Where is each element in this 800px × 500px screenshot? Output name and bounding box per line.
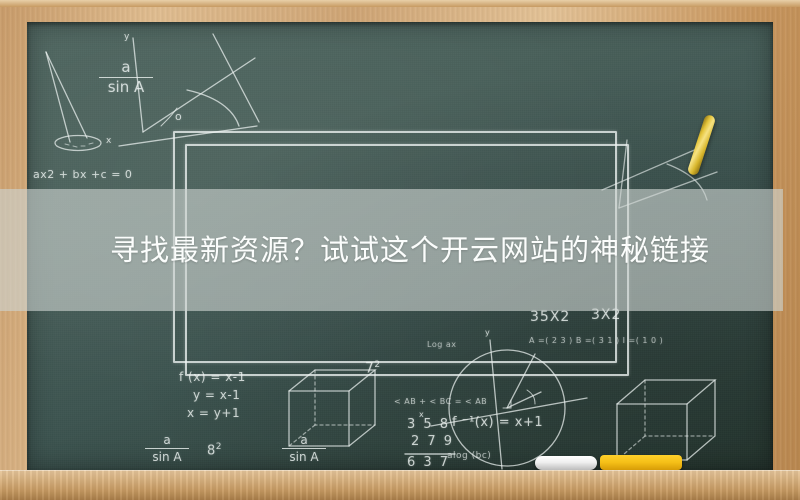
white-chalk-icon <box>535 456 597 470</box>
chalk-tray-ledge <box>0 470 800 500</box>
power-8-exponent: 2 <box>216 442 222 452</box>
fraction-numerator: a <box>145 434 189 446</box>
fraction-denominator: sin A <box>282 451 326 464</box>
chalk-fraction-a-over-sinA-bl2: a sin A <box>282 434 326 464</box>
yellow-chalk-tray-icon <box>600 455 682 470</box>
power-8-base-text: 8 <box>207 443 216 458</box>
fraction-numerator: a <box>282 434 326 446</box>
chalk-sum-row-3: 6 3 7 <box>407 455 450 470</box>
chalk-axis-label-y-topleft: y <box>124 32 130 42</box>
chalk-log-bc: alog (bc) <box>447 451 491 461</box>
chalk-sum-row-1: 3 5 8 <box>407 417 450 432</box>
headline-text: 寻找最新资源？试试这个开云网站的神秘链接 <box>110 230 710 270</box>
frame-bevel-top <box>0 0 800 7</box>
cube-right <box>617 380 715 460</box>
chalk-function-line-3: x = y+1 <box>187 406 240 420</box>
yellow-chalk-stick-icon <box>687 114 717 176</box>
chalk-fraction-a-over-sinA-topleft: a sin A <box>99 60 153 96</box>
chalk-function-line-2: y = x-1 <box>193 388 240 402</box>
chalk-fraction-a-over-sinA-bl1: a sin A <box>145 434 189 464</box>
chalk-quadratic-equation: ax2 + bx +c = 0 <box>33 168 132 181</box>
chalk-axis-label-x-topleft: x <box>106 136 112 146</box>
chalk-axis-label-x-right: x <box>419 410 424 419</box>
chalk-triangle-relation: < AB + < BC = < AB <box>394 397 487 406</box>
chalk-sum-row-2: 2 7 9 <box>411 434 454 449</box>
fraction-numerator: a <box>99 60 153 75</box>
fraction-denominator: sin A <box>145 451 189 464</box>
fraction-bar <box>282 448 326 449</box>
blackboard-banner: a sin A y x o ax2 + bx +c = 0 f (x) = x-… <box>0 0 800 500</box>
chalk-power-8: 82 <box>207 442 222 458</box>
cone-drawing <box>46 52 101 151</box>
chalk-angle-label-topleft: o <box>175 110 182 123</box>
fraction-bar <box>145 448 189 449</box>
chalk-inverse-function: f ⁻¹(x) = x+1 <box>452 415 543 430</box>
fraction-denominator: sin A <box>99 80 153 96</box>
